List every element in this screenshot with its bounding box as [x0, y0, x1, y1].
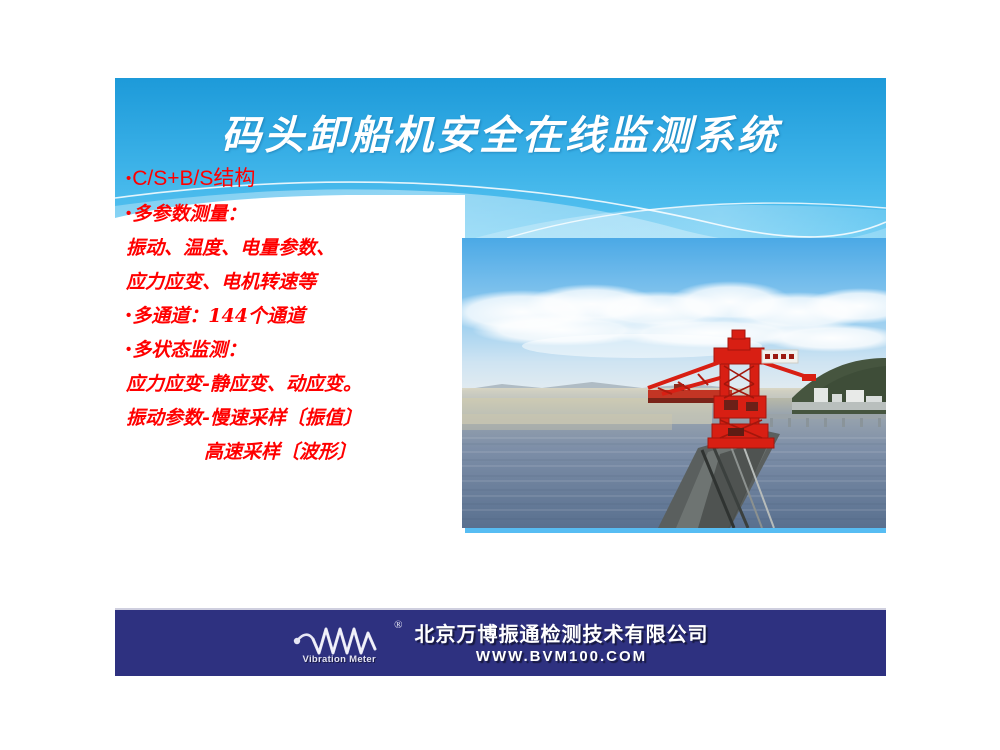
- company-url: WWW.BVM100.COM: [476, 648, 647, 665]
- presentation-slide: 码头卸船机安全在线监测系统 •C/S+B/S结构 •多参数测量： 振动、温度、电…: [0, 0, 1000, 750]
- logo-caption: Vibration Meter: [303, 654, 376, 665]
- company-info: 北京万博振通检测技术有限公司 WWW.BVM100.COM: [415, 618, 709, 665]
- list-item: •C/S+B/S结构: [126, 168, 471, 189]
- list-item: •多状态监测：: [126, 341, 471, 360]
- list-item-label: 应力应变-静应变、动应变。: [126, 373, 362, 395]
- bullet-marker: •: [126, 307, 131, 324]
- list-item-label: C/S+B/S结构: [132, 167, 255, 190]
- port-ship-unloader-photo: [462, 238, 886, 528]
- list-item: 高速采样〔波形〕: [126, 443, 471, 462]
- list-item: •多通道：144个通道: [126, 307, 471, 326]
- registered-trademark-icon: ®: [394, 619, 402, 631]
- page-title: 码头卸船机安全在线监测系统: [115, 103, 886, 161]
- list-item-label: 多状态监测：: [132, 339, 246, 361]
- list-item-label: 多参数测量：: [132, 203, 246, 225]
- list-item-label: 多通道：144个通道: [132, 305, 305, 327]
- vibration-meter-logo: ® Vibration Meter: [293, 619, 405, 665]
- list-item: 应力应变-静应变、动应变。: [126, 375, 471, 394]
- bullet-marker: •: [126, 170, 131, 187]
- bullet-list: •C/S+B/S结构 •多参数测量： 振动、温度、电量参数、 应力应变、电机转速…: [126, 168, 471, 477]
- list-item-label: 应力应变、电机转速等: [126, 271, 316, 293]
- list-item-label: 高速采样〔波形〕: [204, 441, 356, 463]
- list-item: •多参数测量：: [126, 205, 471, 224]
- bullet-marker: •: [126, 341, 131, 358]
- list-item-label: 振动、温度、电量参数、: [126, 237, 335, 259]
- footer-bar: ® Vibration Meter 北京万博振通检测技术有限公司 WWW.BVM…: [115, 608, 886, 676]
- list-item: 振动、温度、电量参数、: [126, 239, 471, 258]
- list-item: 应力应变、电机转速等: [126, 273, 471, 292]
- list-item: 振动参数-慢速采样〔振值〕: [126, 409, 471, 428]
- list-item-label: 振动参数-慢速采样〔振值〕: [126, 407, 362, 429]
- bullet-marker: •: [126, 205, 131, 222]
- company-name: 北京万博振通检测技术有限公司: [415, 618, 709, 647]
